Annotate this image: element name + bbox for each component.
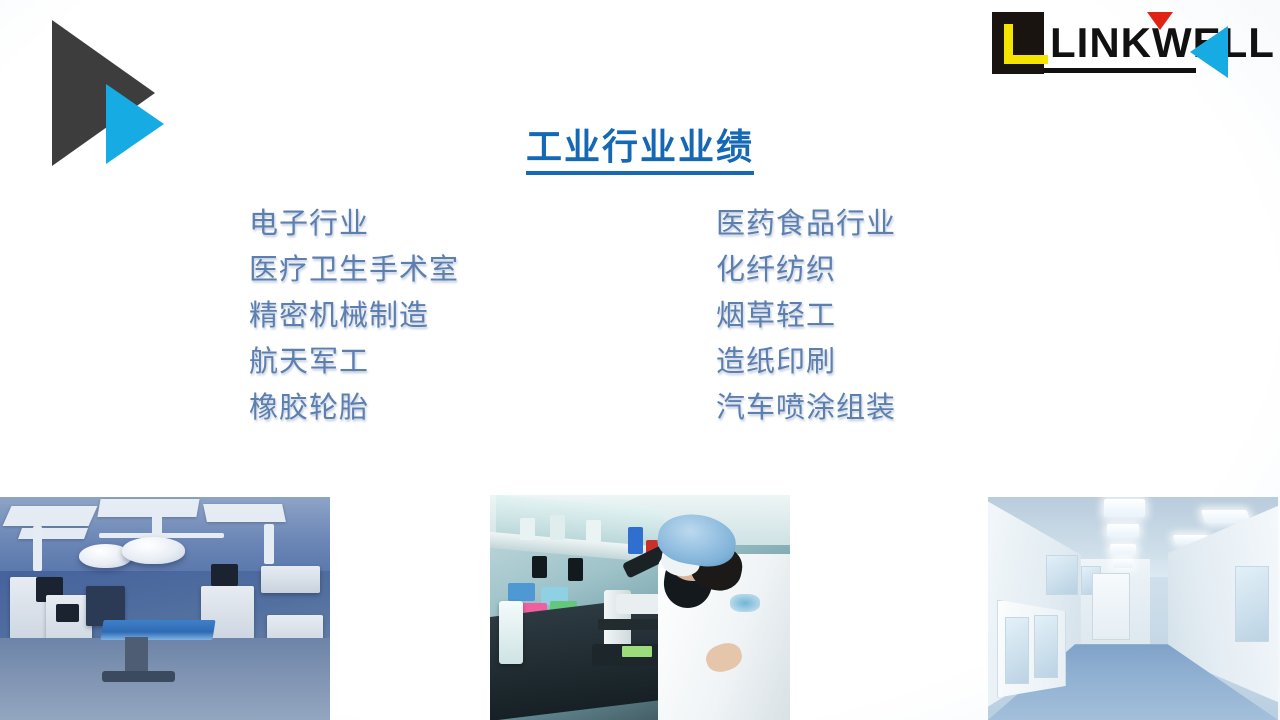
lab-coat-logo [730,594,760,612]
or-light-arm [165,533,224,538]
slide-title-text: 工业行业业绩 [526,118,754,175]
lab-microscope-stage [598,619,661,630]
cr-ceiling-light [1107,524,1139,537]
laboratory-microscope-photo [490,495,790,720]
slide-title: 工业行业业绩 [0,118,1280,175]
logo-l-mark-icon [1004,24,1032,64]
cr-ceiling-light [1113,559,1133,568]
or-operating-table [101,620,216,640]
logo-underline-bar [1044,68,1196,73]
or-table-column [125,637,148,675]
or-light-arm [152,501,162,537]
list-item: 医疗卫生手术室 [249,246,459,292]
or-ceiling-column [33,526,42,571]
cr-viewing-window [1235,566,1270,642]
logo-cyan-triangle-icon [1190,26,1228,78]
cr-ceiling-light [1110,544,1136,555]
lab-large-bottle [499,601,523,664]
cr-viewing-window [1046,555,1078,595]
list-item: 航天军工 [249,338,459,384]
or-ceiling-panel [18,528,88,539]
laboratory-scene [490,495,790,720]
list-item: 精密机械制造 [249,292,459,338]
or-table-base [102,671,175,682]
lab-dark-equipment [568,558,583,581]
lab-reagent-bottle [550,515,565,540]
cr-cabinet-door-window [1034,615,1057,677]
list-item: 烟草轻工 [716,292,896,338]
list-item: 化纤纺织 [716,246,896,292]
or-surgical-light [122,537,185,564]
or-monitor [211,564,237,586]
lab-reagent-bottle [586,520,601,543]
logo-red-triangle-icon [1147,12,1173,30]
or-ceiling-column [264,524,274,564]
lab-dark-equipment [532,556,547,579]
cleanroom-scene [988,497,1278,720]
list-item: 造纸印刷 [716,338,896,384]
lab-microscope-turret [616,594,664,614]
cleanroom-corridor-photo [988,497,1278,720]
lab-reagent-bottle [520,518,535,541]
industry-column-right: 医药食品行业 化纤纺织 烟草轻工 造纸印刷 汽车喷涂组装 [716,200,896,430]
operating-room-scene [0,497,330,720]
lab-blue-bottle [628,527,643,554]
or-monitor [56,604,79,622]
or-ceiling-panel [97,499,199,517]
list-item: 橡胶轮胎 [249,384,459,430]
or-ceiling-panel [203,504,286,522]
industry-columns: 电子行业 医疗卫生手术室 精密机械制造 航天军工 橡胶轮胎 医药食品行业 化纤纺… [0,200,1280,440]
presentation-slide: LINKWELL 工业行业业绩 电子行业 医疗卫生手术室 精密机械制造 航天军工… [0,0,1280,720]
cr-ceiling-light [1104,499,1145,517]
or-pendant-unit [261,566,320,593]
list-item: 电子行业 [249,200,459,246]
operating-room-photo [0,497,330,720]
company-logo: LINKWELL [992,12,1232,82]
lab-microscope-display [622,646,652,657]
lab-tube-rack [508,583,535,601]
cr-cabinet-door-window [1005,617,1028,684]
or-ceiling-panel [2,506,97,526]
logo-l-tail [1032,55,1048,64]
list-item: 汽车喷涂组装 [716,384,896,430]
industry-column-left: 电子行业 医疗卫生手术室 精密机械制造 航天军工 橡胶轮胎 [249,200,459,430]
cr-double-door [1092,573,1130,640]
list-item: 医药食品行业 [716,200,896,246]
